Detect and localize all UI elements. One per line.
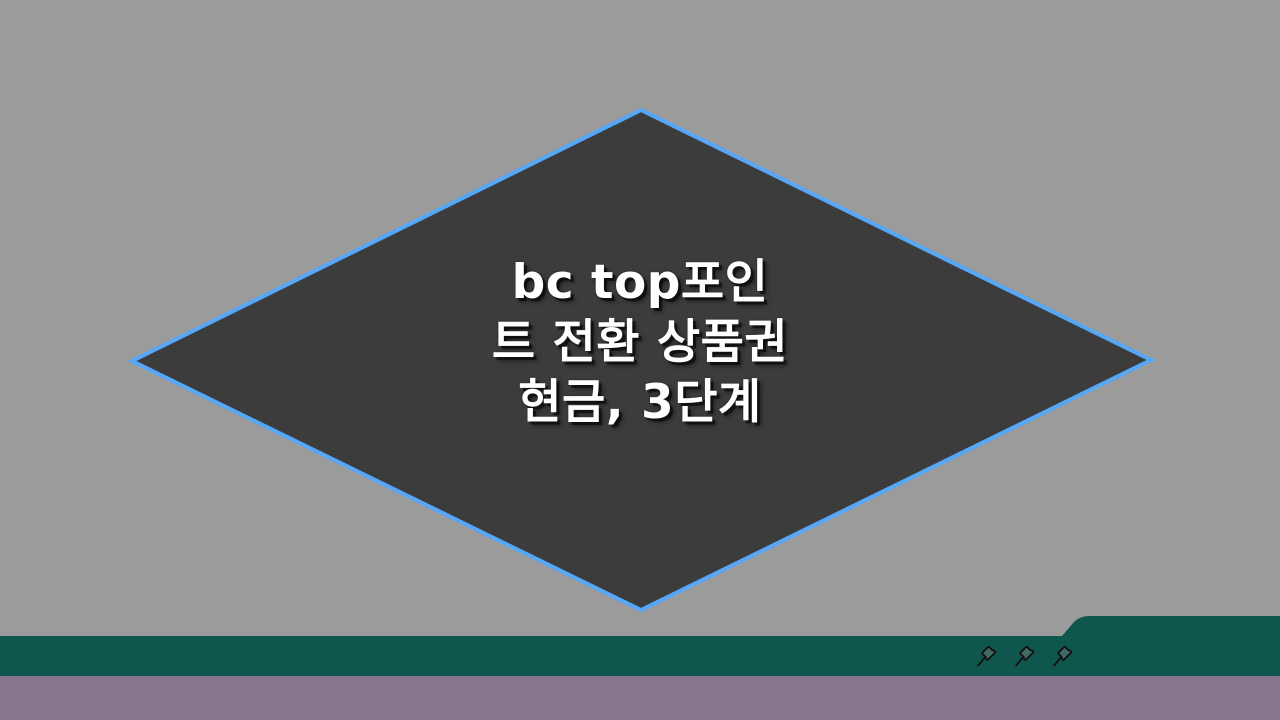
pushpin-icon-1[interactable] bbox=[972, 643, 1000, 671]
footer-teal-band bbox=[0, 616, 1280, 676]
footer-decoration bbox=[0, 600, 1280, 720]
pushpin-icon-3[interactable] bbox=[1048, 643, 1076, 671]
diamond-shape bbox=[132, 110, 1151, 610]
pushpin-icon-group bbox=[972, 641, 1076, 673]
thumbnail-canvas: bc top포인 트 전환 상품권 현금, 3단계 bbox=[0, 0, 1280, 720]
pushpin-icon-2[interactable] bbox=[1010, 643, 1038, 671]
footer-purple-band bbox=[0, 676, 1280, 720]
